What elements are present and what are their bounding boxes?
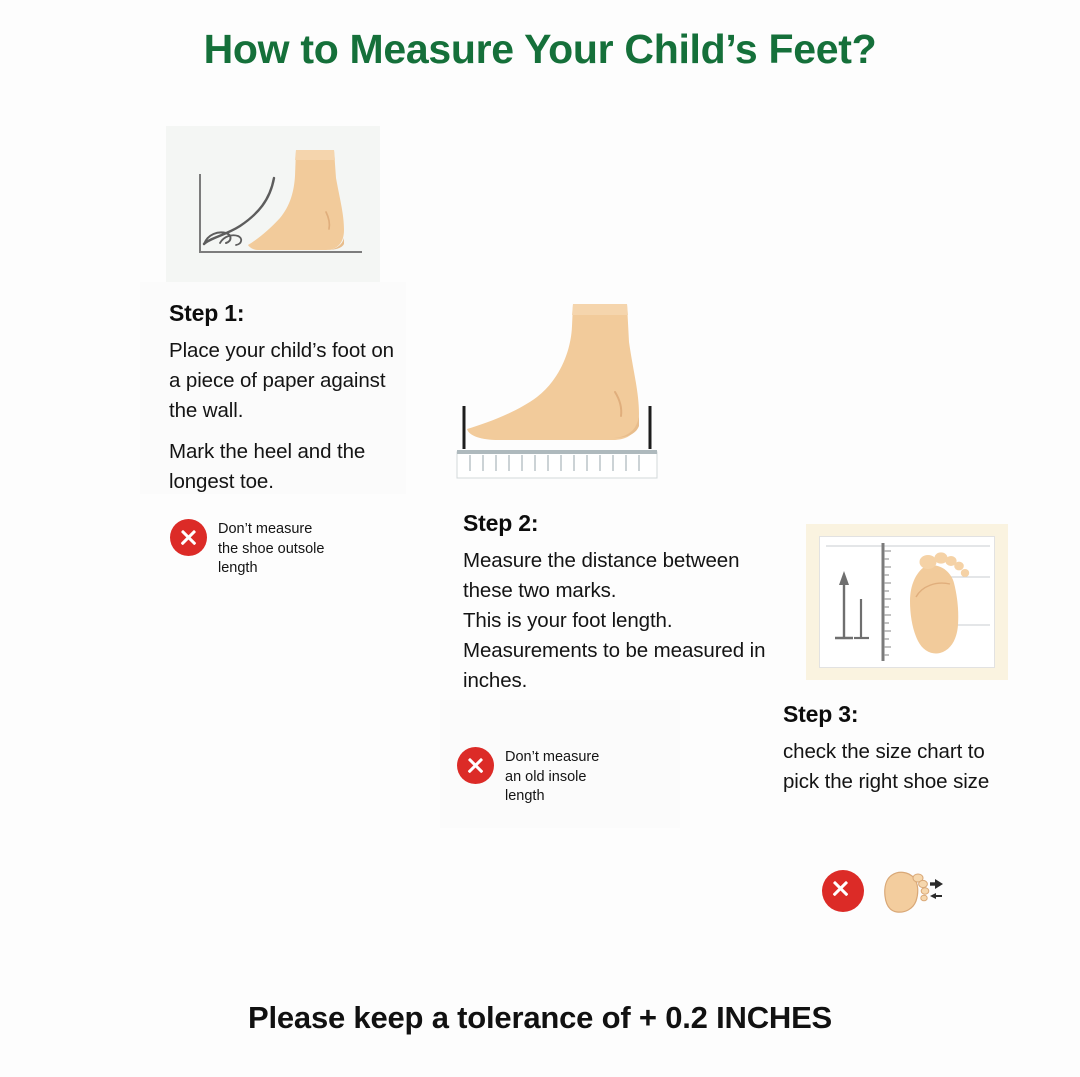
size-chart-footprint-icon	[820, 537, 995, 667]
step-2-line-2: This is your foot length.	[463, 606, 773, 636]
step-1-line-2: Mark the heel and the longest toe.	[169, 437, 401, 497]
step-1-warning-line-1: Don’t measure	[218, 520, 324, 540]
step-2-body: Measure the distance between these two m…	[463, 546, 773, 696]
step-2-warning-text: Don’t measure an old insole length	[505, 747, 599, 807]
step-2-figure	[455, 296, 685, 482]
tolerance-note: Please keep a tolerance of + 0.2 INCHES	[0, 1000, 1080, 1036]
step-2-warning: Don’t measure an old insole length	[457, 747, 647, 807]
step-1-warning-text: Don’t measure the shoe outsole length	[218, 519, 324, 579]
page-title: How to Measure Your Child’s Feet?	[0, 26, 1080, 73]
infographic-page: How to Measure Your Child’s Feet? Step 1…	[0, 0, 1080, 1077]
step-2-warning-line-3: length	[505, 787, 599, 807]
step-1-line-1: Place your child’s foot on a piece of pa…	[169, 336, 401, 426]
step-2-heading: Step 2:	[463, 510, 773, 537]
red-x-circle-icon	[457, 747, 494, 784]
step-1-warning-line-2: the shoe outsole	[218, 540, 324, 560]
footprint-width-arrows-icon	[878, 865, 944, 917]
step-2-text-block: Step 2: Measure the distance between the…	[463, 510, 773, 696]
foot-side-against-wall-icon	[166, 126, 380, 282]
step-3-figure	[806, 524, 1008, 680]
step-2-line-1: Measure the distance between these two m…	[463, 546, 773, 606]
step-3-heading: Step 3:	[783, 701, 1023, 728]
step-2-line-3: Measurements to be measured in inches.	[463, 636, 773, 696]
step-2-warning-line-2: an old insole	[505, 768, 599, 788]
step-2-warning-line-1: Don’t measure	[505, 748, 599, 768]
red-x-circle-icon	[822, 870, 864, 912]
step-1-warning-line-3: length	[218, 559, 324, 579]
step-3-body: check the size chart to pick the right s…	[783, 737, 1023, 797]
foot-on-ruler-icon	[455, 296, 685, 482]
step-3-line-1: check the size chart to pick the right s…	[783, 737, 1023, 797]
step-3-text-block: Step 3: check the size chart to pick the…	[783, 701, 1023, 797]
step-1-heading: Step 1:	[169, 300, 401, 327]
red-x-circle-icon	[170, 519, 207, 556]
step-3-warning	[822, 865, 962, 917]
step-1-warning: Don’t measure the shoe outsole length	[170, 519, 350, 579]
step-1-figure	[166, 126, 380, 282]
size-chart-panel	[819, 536, 995, 668]
step-1-text-block: Step 1: Place your child’s foot on a pie…	[169, 300, 401, 497]
step-1-body: Place your child’s foot on a piece of pa…	[169, 336, 401, 497]
